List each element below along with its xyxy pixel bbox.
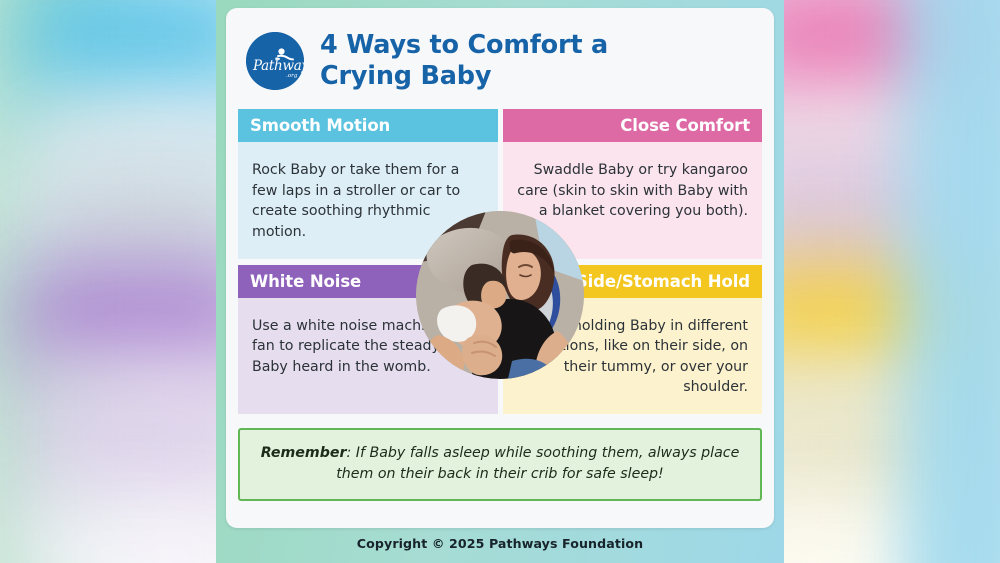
- copyright-notice: Copyright © 2025 Pathways Foundation: [216, 536, 784, 551]
- tip-heading-close-comfort: Close Comfort: [503, 109, 763, 142]
- tip-heading-smooth-motion: Smooth Motion: [238, 109, 498, 142]
- screenshot-stage: Pathways .org 4 Ways to Comfort a Crying…: [0, 0, 1000, 563]
- mother-holding-baby-photo: [416, 211, 584, 379]
- backdrop-blob-right-sky: [900, 0, 1000, 563]
- pathways-logo-icon: Pathways .org: [246, 32, 304, 90]
- page-title: 4 Ways to Comfort a Crying Baby: [320, 30, 608, 91]
- poster-card: Pathways .org 4 Ways to Comfort a Crying…: [226, 8, 774, 528]
- poster-panel: Pathways .org 4 Ways to Comfort a Crying…: [216, 0, 784, 563]
- remember-label: Remember: [261, 445, 347, 461]
- svg-text:Pathways: Pathways: [252, 58, 304, 74]
- remember-callout: Remember: If Baby falls asleep while soo…: [238, 428, 762, 501]
- svg-text:.org: .org: [286, 73, 298, 79]
- poster-header: Pathways .org 4 Ways to Comfort a Crying…: [226, 8, 774, 103]
- remember-separator: :: [347, 445, 356, 461]
- remember-text: If Baby falls asleep while soothing them…: [336, 445, 739, 482]
